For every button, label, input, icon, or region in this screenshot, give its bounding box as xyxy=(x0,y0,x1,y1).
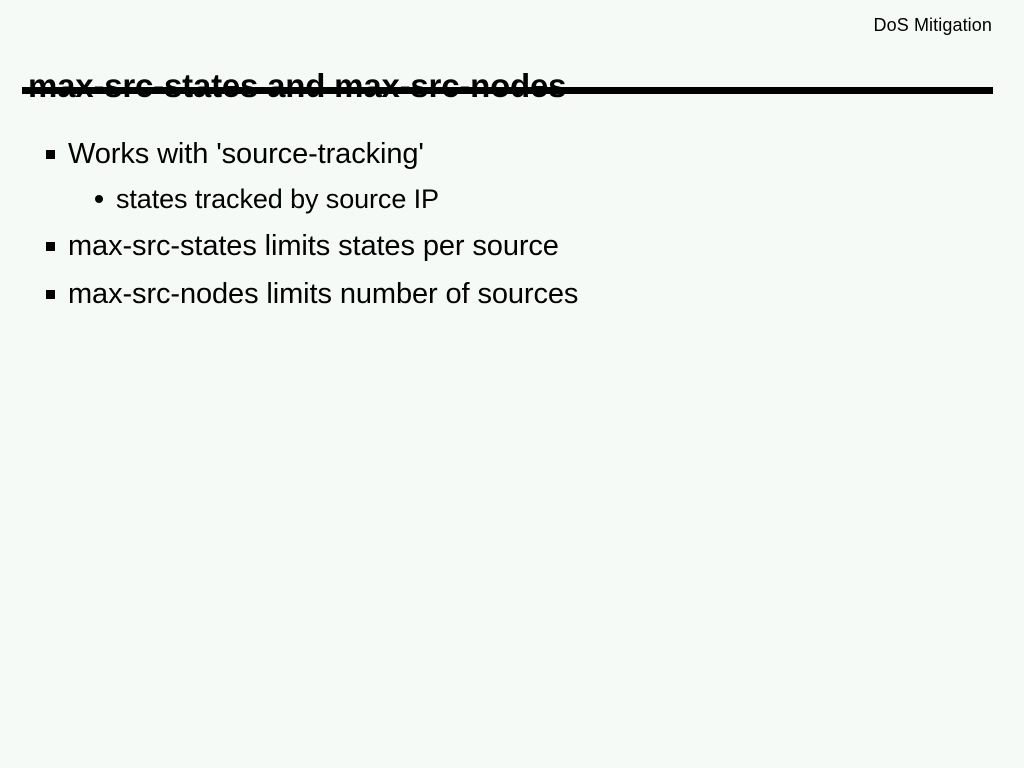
bullet-item-2-label: states tracked by source IP xyxy=(116,180,986,218)
bullet-item-3-label: max-src-states limits states per source xyxy=(68,226,986,266)
square-bullet-icon xyxy=(46,226,68,266)
bullet-list: Works with 'source-tracking' states trac… xyxy=(46,134,986,314)
slide-canvas: DoS Mitigation max-src-states and max-sr… xyxy=(0,0,1024,768)
square-bullet-icon xyxy=(46,274,68,314)
square-bullet-icon xyxy=(46,134,68,174)
bullet-item-2: states tracked by source IP xyxy=(46,180,986,218)
title-divider-rule xyxy=(22,87,993,94)
bullet-item-1: Works with 'source-tracking' xyxy=(46,134,986,174)
bullet-item-1-label: Works with 'source-tracking' xyxy=(68,134,986,174)
bullet-item-4: max-src-nodes limits number of sources xyxy=(46,274,986,314)
round-bullet-icon xyxy=(94,180,116,218)
bullet-item-4-label: max-src-nodes limits number of sources xyxy=(68,274,986,314)
slide-header-label: DoS Mitigation xyxy=(874,14,992,36)
bullet-item-3: max-src-states limits states per source xyxy=(46,226,986,266)
